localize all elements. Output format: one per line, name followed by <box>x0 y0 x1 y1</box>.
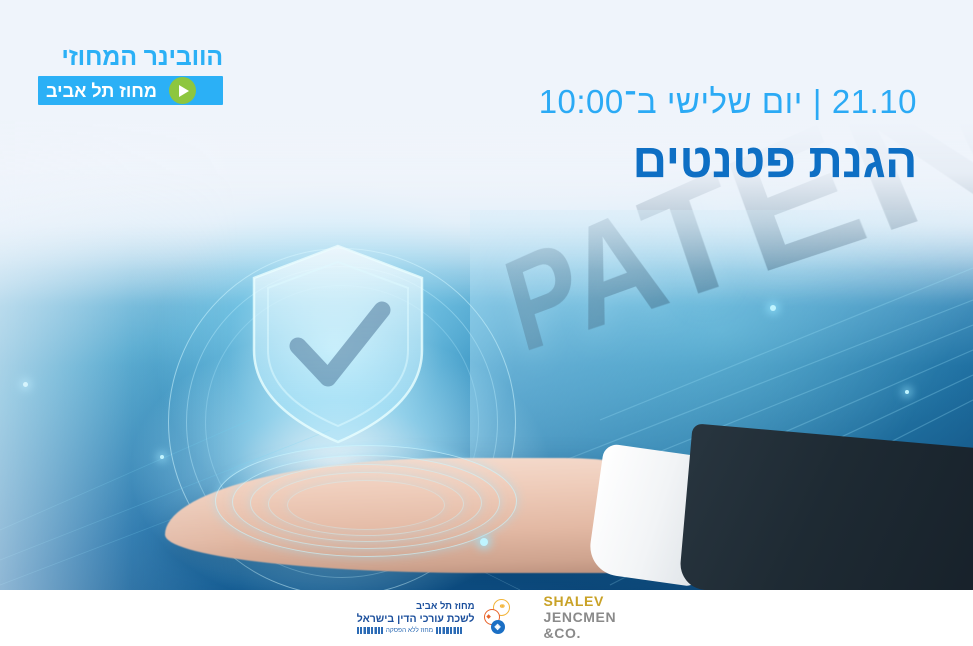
date-separator: | <box>803 83 832 120</box>
bar-association-tagline-row: מחוז ללא הפסקה <box>357 627 475 634</box>
webinar-banner: PATENTS <box>0 0 973 646</box>
district-logo[interactable]: הוובינר המחוזי מחוז תל אביב <box>38 44 223 105</box>
event-time: יום שלישי ב־10:00 <box>539 83 803 120</box>
event-date: 21.10 <box>832 83 917 120</box>
headline-block: 21.10|יום שלישי ב־10:00 הגנת פטנטים <box>539 82 917 189</box>
skyline-icon <box>436 627 462 634</box>
page-title: הגנת פטנטים <box>539 134 917 189</box>
law-firm-line1: SHALEV <box>544 594 617 610</box>
law-firm-line3: &CO. <box>544 626 617 642</box>
skyline-icon <box>357 627 383 634</box>
open-palm-icon <box>165 440 765 590</box>
district-logo-title: הוובינר המחוזי <box>38 44 223 70</box>
district-logo-bar: מחוז תל אביב <box>38 76 223 105</box>
bar-association-emblem-icon: ⚭ ◆ ◈ <box>480 599 514 637</box>
district-logo-bar-label: מחוז תל אביב <box>40 82 167 100</box>
bar-association-text: מחוז תל אביב לשכת עורכי הדין בישראל מחוז… <box>357 602 475 634</box>
law-firm-line2: JENCMEN <box>544 610 617 626</box>
law-firm-logo[interactable]: SHALEV JENCMEN &CO. <box>544 594 617 641</box>
bar-association-line2: לשכת עורכי הדין בישראל <box>357 613 475 625</box>
event-date-time: 21.10|יום שלישי ב־10:00 <box>539 82 917 122</box>
bar-association-tagline: מחוז ללא הפסקה <box>386 627 433 634</box>
bar-association-line1: מחוז תל אביב <box>357 602 475 613</box>
bar-association-logo[interactable]: מחוז תל אביב לשכת עורכי הדין בישראל מחוז… <box>357 599 514 637</box>
suit-sleeve <box>678 423 973 590</box>
shield-check-icon <box>232 238 444 450</box>
play-icon[interactable] <box>169 77 196 104</box>
footer-logos: מחוז תל אביב לשכת עורכי הדין בישראל מחוז… <box>0 590 973 646</box>
